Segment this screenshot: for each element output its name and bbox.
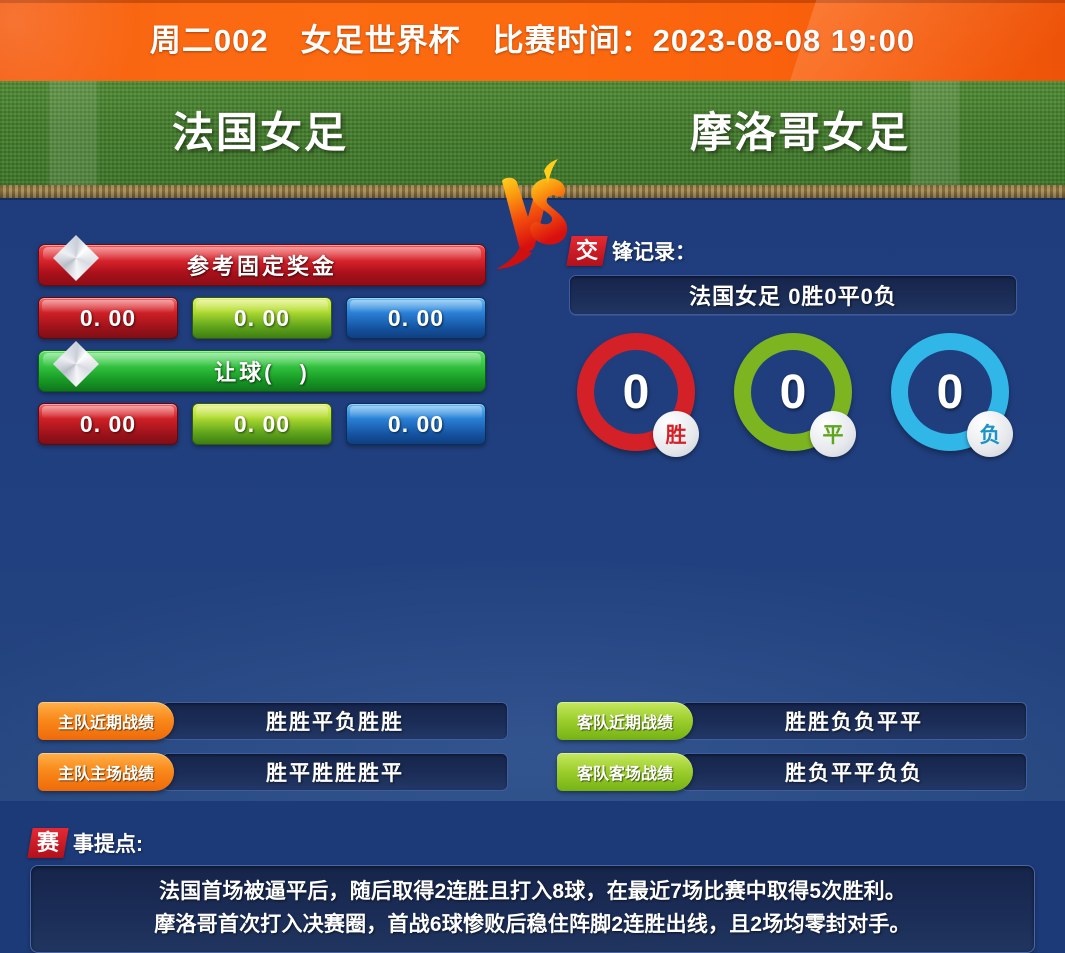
stats-board: 参考固定奖金 0. 00 0. 00 0. 00 让球( ) 0. 00 0. …: [0, 198, 1065, 801]
h2h-summary-text: 法国女足 0胜0平0负: [689, 279, 897, 311]
h2h-heading-label: 锋记录：: [612, 236, 696, 266]
home-recent-form-label: 主队近期战绩: [38, 702, 174, 740]
home-home-form: 主队主场战绩 胜平胜胜胜平: [38, 753, 508, 791]
form-row-recent: 主队近期战绩 胜胜平负胜胜 客队近期战绩 胜胜负负平平: [38, 702, 1027, 753]
notes-line-1: 法国首场被逼平后，随后取得2连胜且打入8球，在最近7场比赛中取得5次胜利。: [45, 875, 1020, 908]
form-records: 主队近期战绩 胜胜平负胜胜 客队近期战绩 胜胜负负平平 主队主场战绩 胜平胜胜胜…: [38, 702, 1027, 804]
h2h-ring-win: 0 胜: [577, 333, 695, 451]
away-away-form: 客队客场战绩 胜负平平负负: [557, 753, 1027, 791]
h2h-summary-bar: 法国女足 0胜0平0负: [569, 275, 1017, 315]
h2h-ring-draw: 0 平: [734, 333, 852, 451]
notes-heading-label: 事提点:: [73, 828, 143, 858]
notes-heading: 赛 事提点:: [30, 828, 1035, 858]
diamond-icon: [53, 235, 99, 281]
handicap-odds-home-win[interactable]: 0. 00: [38, 403, 178, 445]
fixed-bonus-title: 参考固定奖金: [187, 249, 337, 281]
odds-draw[interactable]: 0. 00: [192, 297, 332, 339]
handicap-odds-draw[interactable]: 0. 00: [192, 403, 332, 445]
away-recent-form-value-box: 胜胜负负平平: [681, 702, 1027, 740]
vs-icon: [474, 159, 594, 279]
fixed-bonus-odds-row: 0. 00 0. 00 0. 00: [38, 297, 486, 339]
h2h-panel: 交 锋记录： 法国女足 0胜0平0负 0 胜 0 平 0 负: [569, 236, 1017, 451]
odds-panel: 参考固定奖金 0. 00 0. 00 0. 00 让球( ) 0. 00 0. …: [38, 244, 486, 445]
h2h-lose-badge: 负: [967, 411, 1013, 457]
away-recent-form-label: 客队近期战绩: [557, 702, 693, 740]
notes-line-2: 摩洛哥首次打入决赛圈，首战6球惨败后稳住阵脚2连胜出线，且2场均零封对手。: [45, 908, 1020, 941]
away-away-form-value: 胜负平平负负: [785, 757, 923, 787]
away-recent-form-value: 胜胜负负平平: [785, 706, 923, 736]
h2h-heading: 交 锋记录：: [569, 236, 1017, 266]
h2h-ring-lose: 0 负: [891, 333, 1009, 451]
h2h-rings: 0 胜 0 平 0 负: [569, 333, 1017, 451]
home-team-name: 法国女足: [60, 81, 460, 185]
home-home-form-label: 主队主场战绩: [38, 753, 174, 791]
away-recent-form: 客队近期战绩 胜胜负负平平: [557, 702, 1027, 740]
h2h-draw-badge: 平: [810, 411, 856, 457]
match-header-bar: 周二002 女足世界杯 比赛时间：2023-08-08 19:00: [0, 0, 1065, 81]
form-row-venue: 主队主场战绩 胜平胜胜胜平 客队客场战绩 胜负平平负负: [38, 753, 1027, 804]
home-recent-form-value-box: 胜胜平负胜胜: [162, 702, 508, 740]
teams-banner: 法国女足 摩洛哥女足: [0, 81, 1065, 185]
notes-tag-badge: 赛: [27, 828, 68, 858]
away-away-form-label: 客队客场战绩: [557, 753, 693, 791]
diamond-icon: [53, 341, 99, 387]
handicap-odds-row: 0. 00 0. 00 0. 00: [38, 403, 486, 445]
home-recent-form-value: 胜胜平负胜胜: [266, 706, 404, 736]
away-team-name: 摩洛哥女足: [600, 81, 1000, 185]
handicap-title-bar: 让球( ): [38, 350, 486, 392]
fixed-bonus-title-bar: 参考固定奖金: [38, 244, 486, 286]
odds-home-win[interactable]: 0. 00: [38, 297, 178, 339]
odds-away-win[interactable]: 0. 00: [346, 297, 486, 339]
h2h-win-badge: 胜: [653, 411, 699, 457]
handicap-odds-away-win[interactable]: 0. 00: [346, 403, 486, 445]
home-home-form-value: 胜平胜胜胜平: [266, 757, 404, 787]
away-away-form-value-box: 胜负平平负负: [681, 753, 1027, 791]
page-title: 周二002 女足世界杯 比赛时间：2023-08-08 19:00: [0, 0, 1065, 81]
handicap-title: 让球( ): [214, 355, 310, 387]
home-home-form-value-box: 胜平胜胜胜平: [162, 753, 508, 791]
match-notes: 赛 事提点: 法国首场被逼平后，随后取得2连胜且打入8球，在最近7场比赛中取得5…: [30, 828, 1035, 953]
notes-body: 法国首场被逼平后，随后取得2连胜且打入8球，在最近7场比赛中取得5次胜利。 摩洛…: [30, 865, 1035, 953]
home-recent-form: 主队近期战绩 胜胜平负胜胜: [38, 702, 508, 740]
